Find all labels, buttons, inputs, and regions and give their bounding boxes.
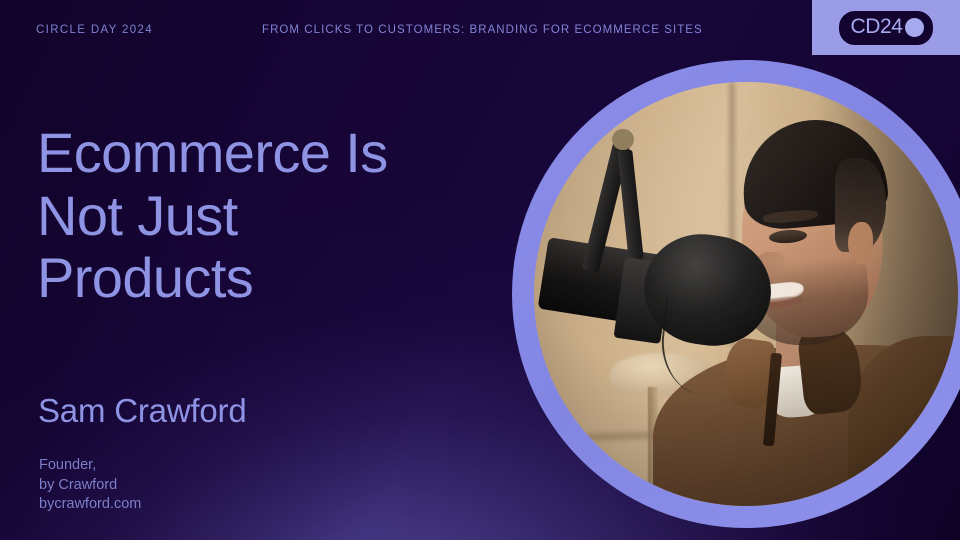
speaker-role: Founder, (39, 456, 141, 476)
headline-line-1: Ecommerce Is (37, 122, 507, 185)
logo-wordmark: CD24 (850, 16, 902, 39)
speaker-company: by Crawford (39, 476, 141, 496)
event-name: CIRCLE DAY 2024 (36, 24, 153, 36)
speaker-details: Founder, by Crawford bycrawford.com (39, 456, 141, 515)
slide-headline: Ecommerce Is Not Just Products (37, 122, 507, 310)
headline-line-3: Products (37, 247, 507, 310)
speaker-website: bycrawford.com (39, 495, 141, 515)
session-title: FROM CLICKS TO CUSTOMERS: BRANDING FOR E… (262, 24, 703, 36)
presentation-slide: CIRCLE DAY 2024 FROM CLICKS TO CUSTOMERS… (0, 0, 960, 540)
photo-lighting-overlay (534, 82, 958, 506)
filled-circle-icon (905, 18, 924, 37)
brand-logo: CD24 (812, 0, 960, 55)
headline-line-2: Not Just (37, 185, 507, 248)
speaker-name: Sam Crawford (38, 392, 247, 430)
logo-pill: CD24 (839, 11, 932, 45)
speaker-photo (534, 82, 958, 506)
